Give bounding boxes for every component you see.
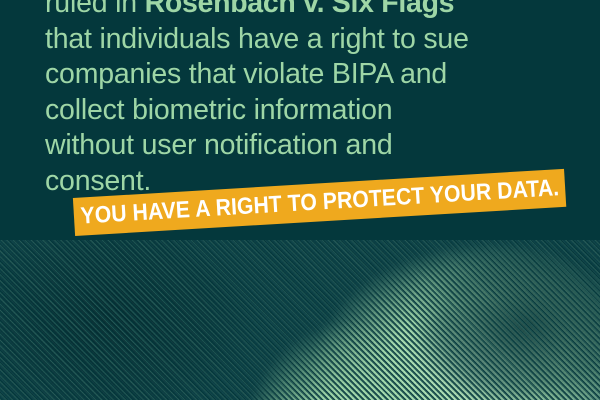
halftone-image-section	[0, 240, 600, 400]
copy-line-4: collect biometric information	[45, 93, 565, 129]
copy-line-5: without user notification and	[45, 128, 565, 164]
copy-line-1: ruled in Rosenbach v. Six Flags	[45, 0, 565, 22]
copy-line-3: companies that violate BIPA and	[45, 57, 565, 93]
copy-line-2: that individuals have a right to sue	[45, 22, 565, 58]
case-name: Rosenbach v. Six Flags	[145, 0, 455, 19]
body-copy: ruled in Rosenbach v. Six Flags that ind…	[45, 0, 565, 200]
image-grain-texture	[0, 240, 600, 400]
poster-canvas: ruled in Rosenbach v. Six Flags that ind…	[0, 0, 600, 400]
copy-line-1-prefix: ruled in	[45, 0, 145, 19]
